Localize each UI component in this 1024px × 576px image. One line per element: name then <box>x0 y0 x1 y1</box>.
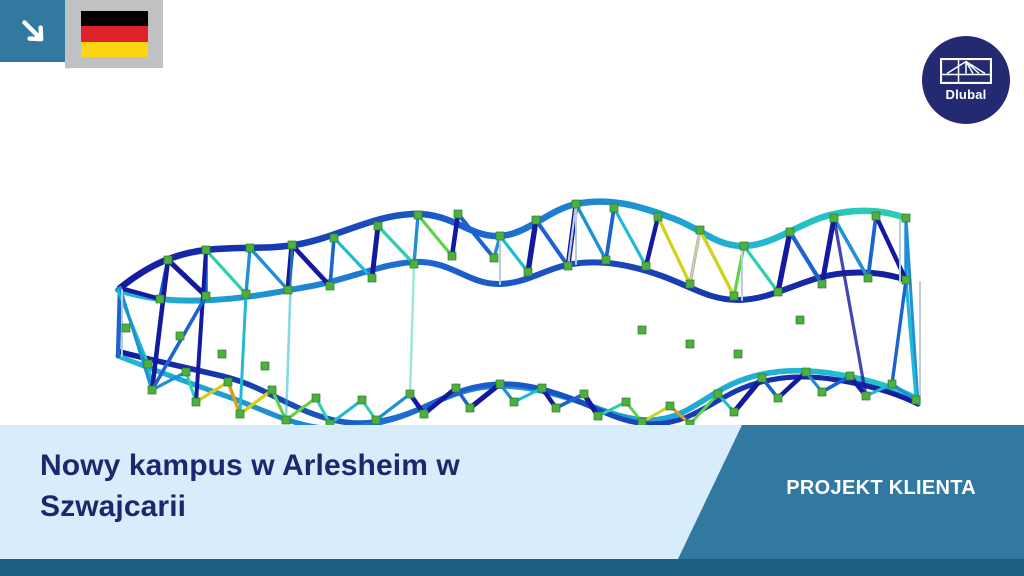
germany-flag-tile[interactable] <box>65 0 163 68</box>
structural-analysis-model[interactable] <box>0 68 1024 428</box>
slide-canvas: Dlubal <box>0 0 1024 576</box>
arrow-down-right-icon <box>18 16 48 46</box>
bottom-banner: Nowy kampus w Arlesheim w Szwajcarii PRO… <box>0 425 1024 576</box>
banner-bottom-strip <box>0 559 1024 576</box>
badge-cluster <box>0 0 163 68</box>
germany-flag-icon <box>81 11 148 57</box>
page-title: Nowy kampus w Arlesheim w Szwajcarii <box>40 445 600 528</box>
status-badge: PROJEKT KLIENTA <box>786 477 976 500</box>
arrow-down-right-tile[interactable] <box>0 0 65 62</box>
